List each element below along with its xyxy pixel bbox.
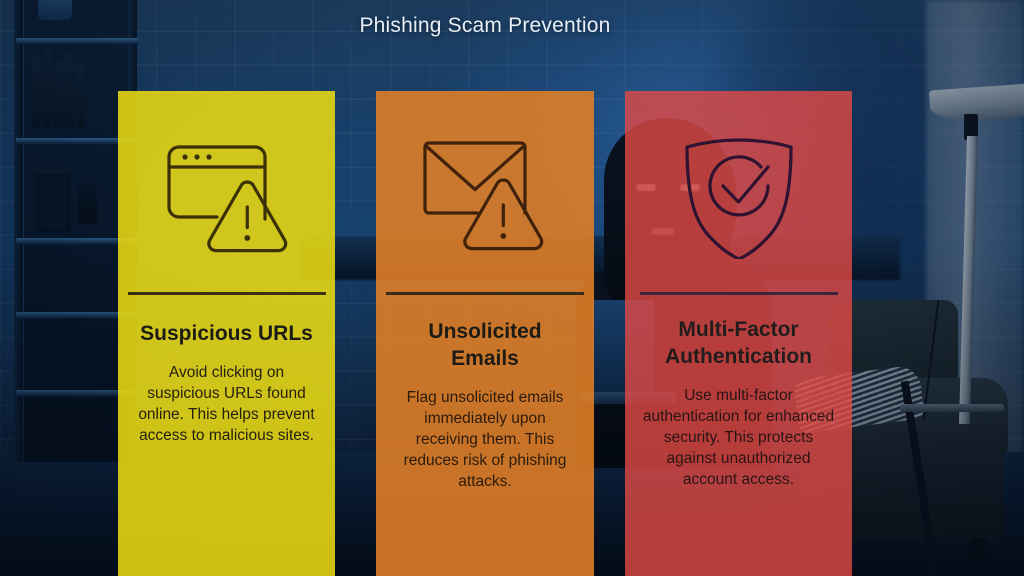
card-unsolicited-emails[interactable]: Unsolicited Emails Flag unsolicited emai… (376, 91, 594, 576)
card-multi-factor-authentication[interactable]: Multi-Factor Authentication Use multi-fa… (625, 91, 852, 576)
card-title: Suspicious URLs (140, 321, 313, 348)
card-body: Use multi-factor authentication for enha… (641, 385, 836, 490)
card-body: Flag unsolicited emails immediately upon… (392, 387, 578, 492)
card-title: Multi-Factor Authentication (641, 317, 836, 371)
slide-stage: Phishing Scam Prevention Suspicious URLs… (0, 0, 1024, 576)
card-divider (128, 292, 326, 295)
card-title: Unsolicited Emails (392, 319, 578, 373)
browser-window-warning-icon (134, 91, 319, 296)
card-divider (640, 292, 838, 295)
slide-title: Phishing Scam Prevention (0, 14, 970, 38)
card-divider (386, 292, 584, 295)
envelope-warning-icon (392, 91, 578, 296)
card-suspicious-urls[interactable]: Suspicious URLs Avoid clicking on suspic… (118, 91, 335, 576)
card-body: Avoid clicking on suspicious URLs found … (134, 362, 319, 446)
shield-check-icon (641, 91, 836, 296)
